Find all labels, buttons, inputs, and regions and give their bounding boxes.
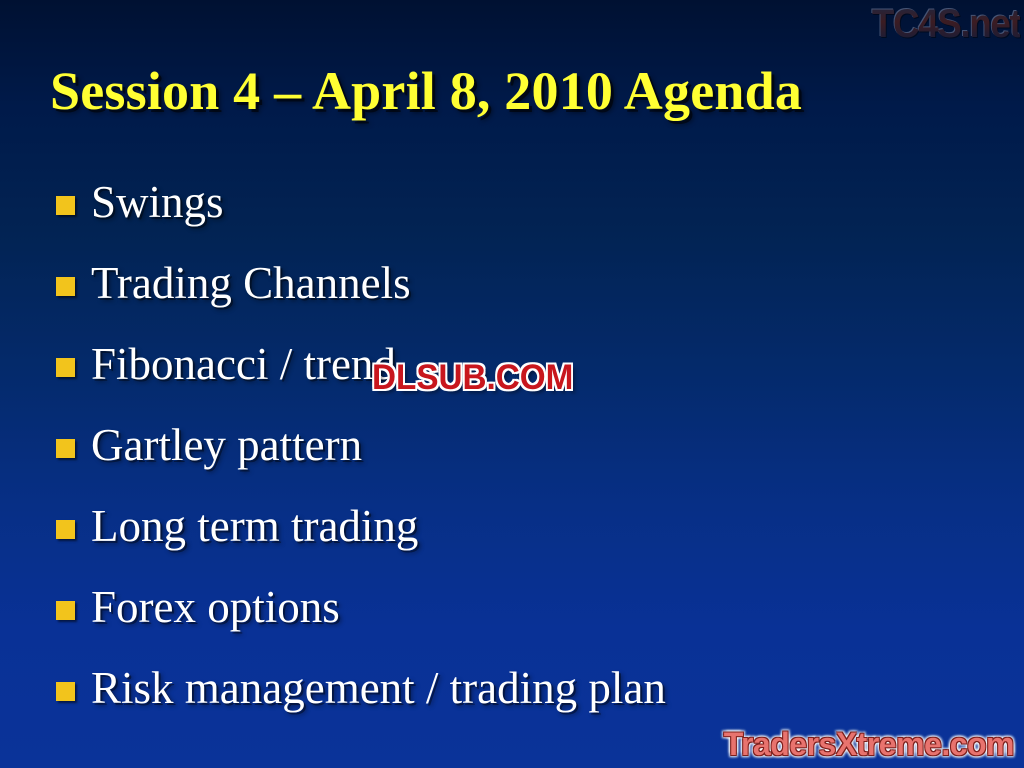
list-item: Fibonacci / trend	[56, 338, 986, 419]
list-item-label: Swings	[91, 176, 986, 228]
square-bullet-icon	[56, 277, 75, 296]
list-item-label: Risk management / trading plan	[91, 662, 986, 714]
list-item-label: Gartley pattern	[91, 419, 986, 471]
square-bullet-icon	[56, 358, 75, 377]
list-item: Swings	[56, 176, 986, 257]
list-item-label: Fibonacci / trend	[91, 338, 986, 390]
slide-title: Session 4 – April 8, 2010 Agenda	[50, 60, 980, 122]
square-bullet-icon	[56, 196, 75, 215]
list-item: Gartley pattern	[56, 419, 986, 500]
list-item-label: Long term trading	[91, 500, 986, 552]
square-bullet-icon	[56, 601, 75, 620]
agenda-bullet-list: Swings Trading Channels Fibonacci / tren…	[56, 176, 986, 743]
square-bullet-icon	[56, 682, 75, 701]
square-bullet-icon	[56, 520, 75, 539]
list-item-label: Trading Channels	[91, 257, 986, 309]
list-item: Long term trading	[56, 500, 986, 581]
list-item: Risk management / trading plan	[56, 662, 986, 743]
presentation-slide: Session 4 – April 8, 2010 Agenda Swings …	[0, 0, 1024, 768]
list-item: Forex options	[56, 581, 986, 662]
watermark-tc4s: TC4S.net	[872, 2, 1020, 46]
list-item: Trading Channels	[56, 257, 986, 338]
list-item-label: Forex options	[91, 581, 986, 633]
square-bullet-icon	[56, 439, 75, 458]
